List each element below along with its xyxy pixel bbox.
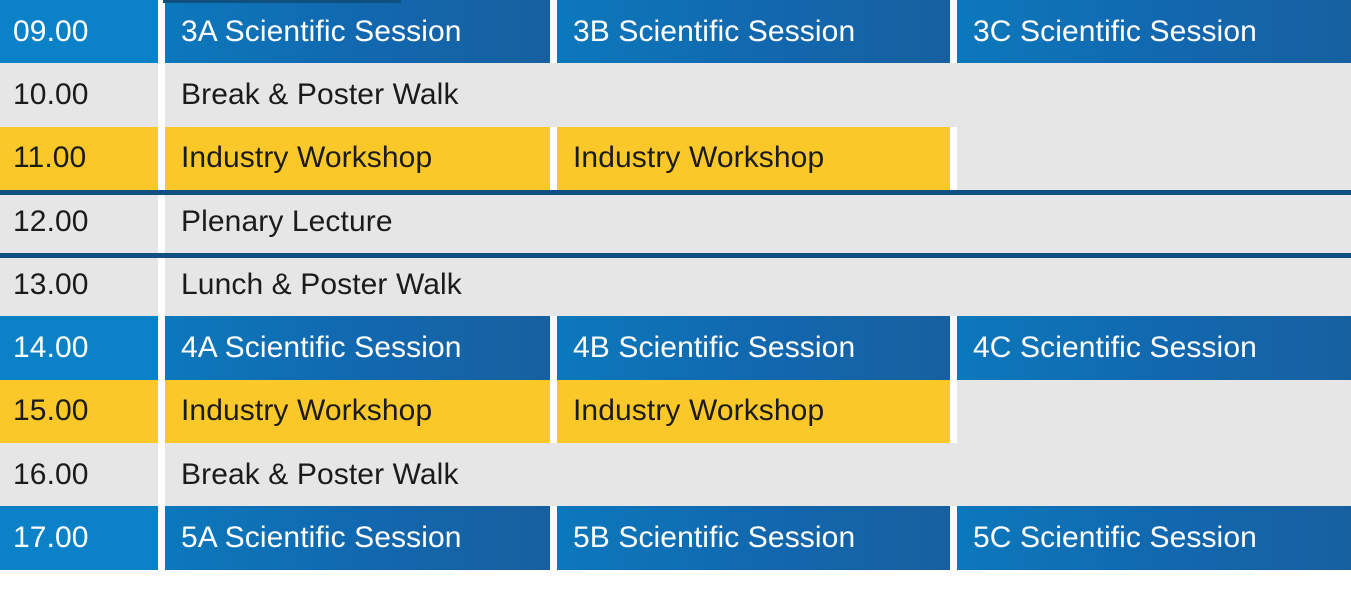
session-cell[interactable]: Industry Workshop — [557, 127, 950, 190]
time-label: 16.00 — [0, 443, 158, 506]
time-label: 15.00 — [0, 380, 158, 443]
session-cell[interactable]: 5B Scientific Session — [557, 506, 950, 569]
session-cell[interactable]: 5A Scientific Session — [165, 506, 550, 569]
time-label: 09.00 — [0, 0, 158, 63]
time-label: 12.00 — [0, 190, 158, 253]
time-label: 14.00 — [0, 316, 158, 379]
session-cell[interactable]: Plenary Lecture — [165, 190, 1351, 253]
session-cell[interactable]: Lunch & Poster Walk — [165, 253, 1351, 316]
session-cell[interactable]: Break & Poster Walk — [165, 443, 1351, 506]
session-cell[interactable]: 3B Scientific Session — [557, 0, 950, 63]
table-row: 14.00 4A Scientific Session 4B Scientifi… — [0, 316, 1351, 379]
table-row: 10.00 Break & Poster Walk — [0, 63, 1351, 126]
session-cell[interactable]: 5C Scientific Session — [957, 506, 1351, 569]
session-cell[interactable]: Break & Poster Walk — [165, 63, 1351, 126]
table-row: 17.00 5A Scientific Session 5B Scientifi… — [0, 506, 1351, 569]
table-row: 15.00 Industry Workshop Industry Worksho… — [0, 380, 1351, 443]
session-cell[interactable]: 4C Scientific Session — [957, 316, 1351, 379]
time-label: 17.00 — [0, 506, 158, 569]
table-row: 09.00 3A Scientific Session 3B Scientifi… — [0, 0, 1351, 63]
time-label: 13.00 — [0, 253, 158, 316]
table-row: 12.00 Plenary Lecture — [0, 190, 1351, 253]
session-cell[interactable]: 4A Scientific Session — [165, 316, 550, 379]
session-cell[interactable]: Industry Workshop — [557, 380, 950, 443]
session-cell[interactable]: 3C Scientific Session — [957, 0, 1351, 63]
empty-cell — [957, 380, 1351, 443]
bottom-whitespace — [0, 570, 1351, 600]
table-row: 16.00 Break & Poster Walk — [0, 443, 1351, 506]
time-label: 10.00 — [0, 63, 158, 126]
session-cell[interactable]: Industry Workshop — [165, 380, 550, 443]
schedule-table: 09.00 3A Scientific Session 3B Scientifi… — [0, 0, 1351, 600]
session-cell[interactable]: Industry Workshop — [165, 127, 550, 190]
empty-cell — [957, 127, 1351, 190]
session-cell[interactable]: 3A Scientific Session — [165, 0, 550, 63]
table-row: 13.00 Lunch & Poster Walk — [0, 253, 1351, 316]
time-label: 11.00 — [0, 127, 158, 190]
session-cell[interactable]: 4B Scientific Session — [557, 316, 950, 379]
table-row: 11.00 Industry Workshop Industry Worksho… — [0, 127, 1351, 190]
top-rule-stub — [163, 0, 401, 3]
